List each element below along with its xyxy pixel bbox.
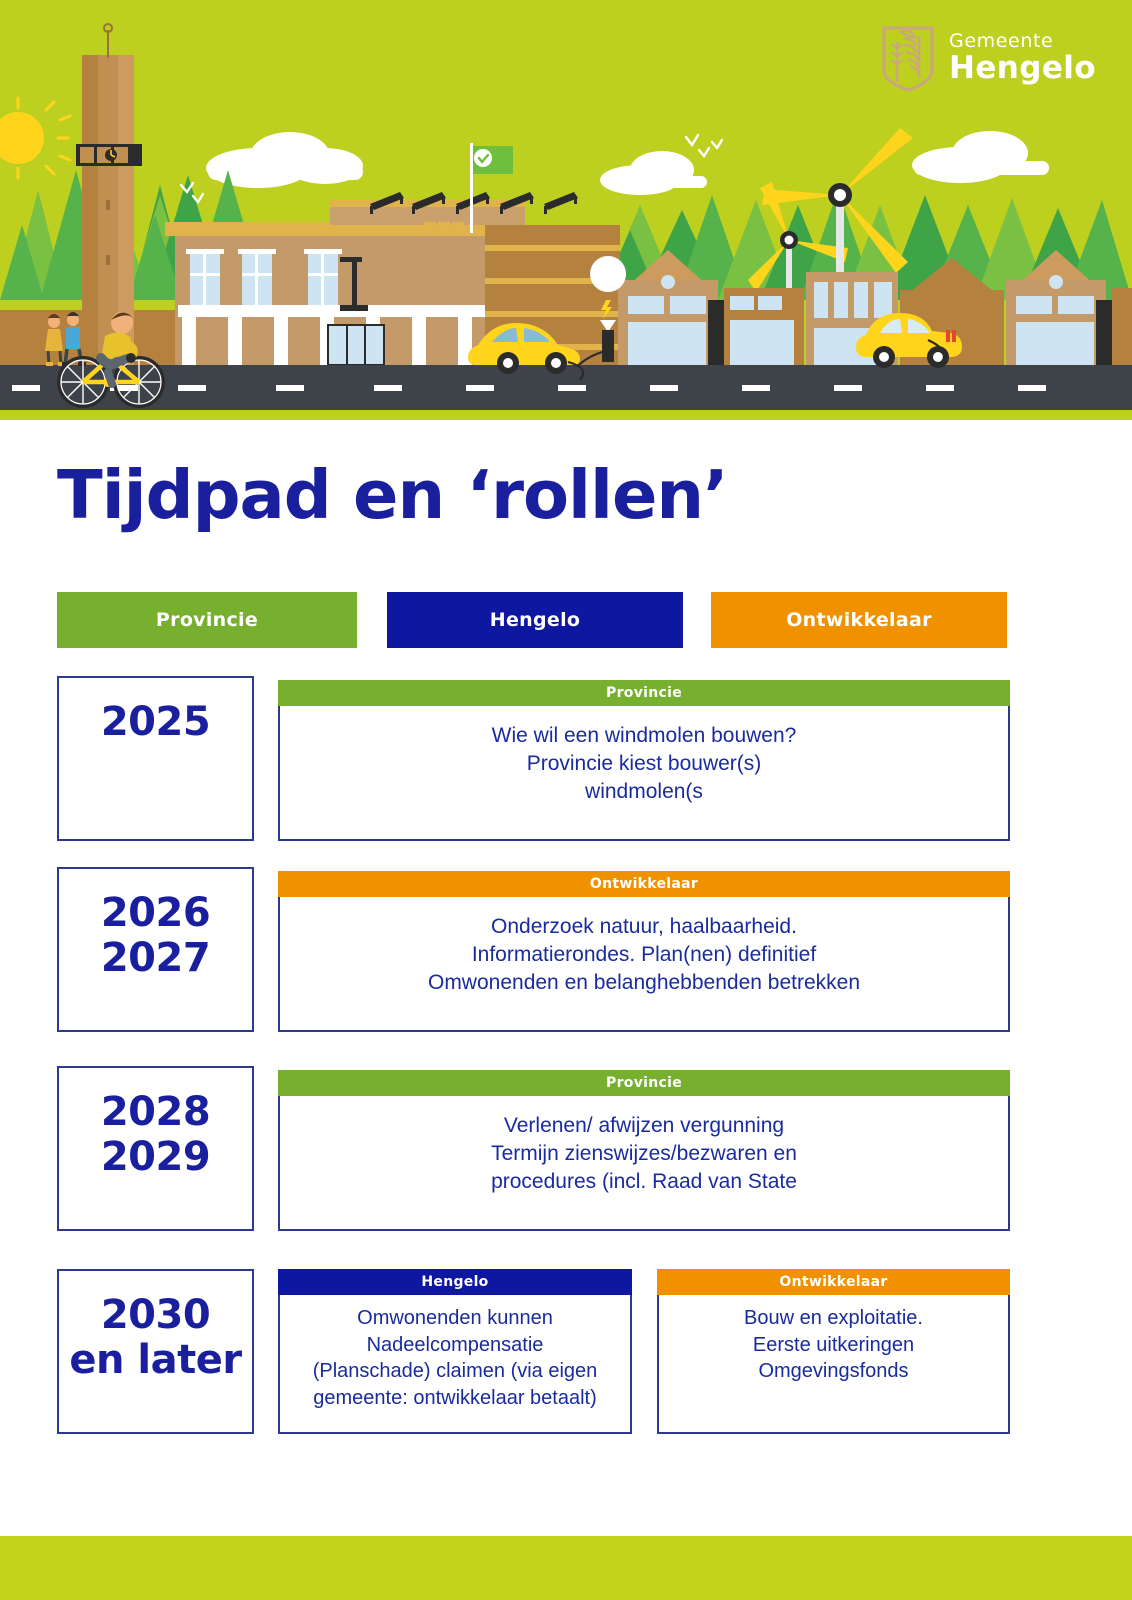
year-label: 2026 2027 xyxy=(101,891,210,981)
card-body-text: Omwonenden kunnen Nadeelcompensatie (Pla… xyxy=(280,1295,630,1411)
card-body-text: Verlenen/ afwijzen vergunning Termijn zi… xyxy=(280,1096,1008,1196)
year-label: 2028 2029 xyxy=(101,1090,210,1180)
card-body-text: Onderzoek natuur, haalbaarheid. Informat… xyxy=(280,897,1008,997)
year-box: 2026 2027 xyxy=(57,867,254,1032)
year-box: 2025 xyxy=(57,676,254,841)
card-owner-label: Ontwikkelaar xyxy=(590,876,698,892)
card-owner-header: Provincie xyxy=(278,1070,1010,1096)
timeline-card[interactable]: Ontwikkelaar Bouw en exploitatie. Eerste… xyxy=(657,1269,1010,1434)
card-owner-header: Ontwikkelaar xyxy=(278,871,1010,897)
card-owner-label: Provincie xyxy=(606,685,682,701)
footer-band xyxy=(0,1536,1132,1600)
card-owner-label: Ontwikkelaar xyxy=(779,1274,887,1290)
card-owner-header: Hengelo xyxy=(278,1269,632,1295)
year-label: 2025 xyxy=(101,700,210,745)
timeline-card[interactable]: Provincie Wie wil een windmolen bouwen? … xyxy=(278,680,1010,841)
card-owner-header: Provincie xyxy=(278,680,1010,706)
timeline-card[interactable]: Provincie Verlenen/ afwijzen vergunning … xyxy=(278,1070,1010,1231)
timeline-card[interactable]: Hengelo Omwonenden kunnen Nadeelcompensa… xyxy=(278,1269,632,1434)
timeline-card[interactable]: Ontwikkelaar Onderzoek natuur, haalbaarh… xyxy=(278,871,1010,1032)
card-owner-header: Ontwikkelaar xyxy=(657,1269,1010,1295)
timeline: 2025 Provincie Wie wil een windmolen bou… xyxy=(0,0,1132,1600)
year-box: 2030 en later xyxy=(57,1269,254,1434)
year-label: 2030 en later xyxy=(69,1293,241,1383)
card-owner-label: Hengelo xyxy=(421,1274,488,1290)
card-body-text: Bouw en exploitatie. Eerste uitkeringen … xyxy=(659,1295,1008,1385)
year-box: 2028 2029 xyxy=(57,1066,254,1231)
card-owner-label: Provincie xyxy=(606,1075,682,1091)
card-body-text: Wie wil een windmolen bouwen? Provincie … xyxy=(280,706,1008,806)
